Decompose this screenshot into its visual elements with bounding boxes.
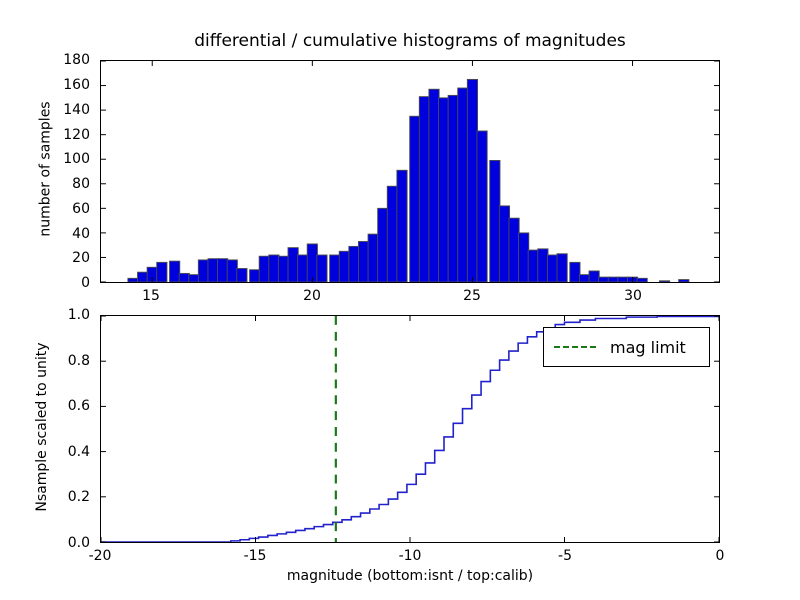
legend-label-mag-limit: mag limit xyxy=(610,338,686,357)
top-ytick-160: 160 xyxy=(38,77,90,93)
top-ytick-0: 0 xyxy=(38,275,90,291)
bottom-panel-ylabel: Nsample scaled to unity xyxy=(34,313,50,541)
top-xtick-15: 15 xyxy=(142,288,160,304)
legend: mag limit xyxy=(543,327,710,367)
top-ytick-120: 120 xyxy=(38,127,90,143)
figure-xlabel: magnitude (bottom:isnt / top:calib) xyxy=(100,568,720,584)
top-ytick-40: 40 xyxy=(38,226,90,242)
top-ytick-100: 100 xyxy=(38,151,90,167)
bottom-ytick-08: 0.8 xyxy=(38,353,90,369)
bottom-xtick-m10: -10 xyxy=(399,548,422,564)
bottom-xtick-m20: -20 xyxy=(89,548,112,564)
bottom-ytick-04: 0.4 xyxy=(38,444,90,460)
histogram-axes xyxy=(100,60,720,283)
bottom-xtick-m15: -15 xyxy=(244,548,267,564)
bottom-ytick-00: 0.0 xyxy=(38,535,90,551)
figure-title: differential / cumulative histograms of … xyxy=(100,31,720,51)
top-ytick-180: 180 xyxy=(38,52,90,68)
top-ytick-80: 80 xyxy=(38,176,90,192)
top-xtick-20: 20 xyxy=(303,288,321,304)
bottom-xtick-m5: -5 xyxy=(558,548,572,564)
top-ytick-140: 140 xyxy=(38,102,90,118)
histogram-plot-area xyxy=(101,61,719,282)
figure-canvas: differential / cumulative histograms of … xyxy=(0,0,800,600)
top-xtick-25: 25 xyxy=(463,288,481,304)
top-xtick-30: 30 xyxy=(624,288,642,304)
top-ytick-60: 60 xyxy=(38,201,90,217)
bottom-ytick-06: 0.6 xyxy=(38,398,90,414)
top-ytick-20: 20 xyxy=(38,250,90,266)
mag-limit-line-icon xyxy=(554,346,596,348)
bottom-ytick-10: 1.0 xyxy=(38,307,90,323)
bottom-xtick-0: 0 xyxy=(716,548,725,564)
bottom-ytick-02: 0.2 xyxy=(38,489,90,505)
